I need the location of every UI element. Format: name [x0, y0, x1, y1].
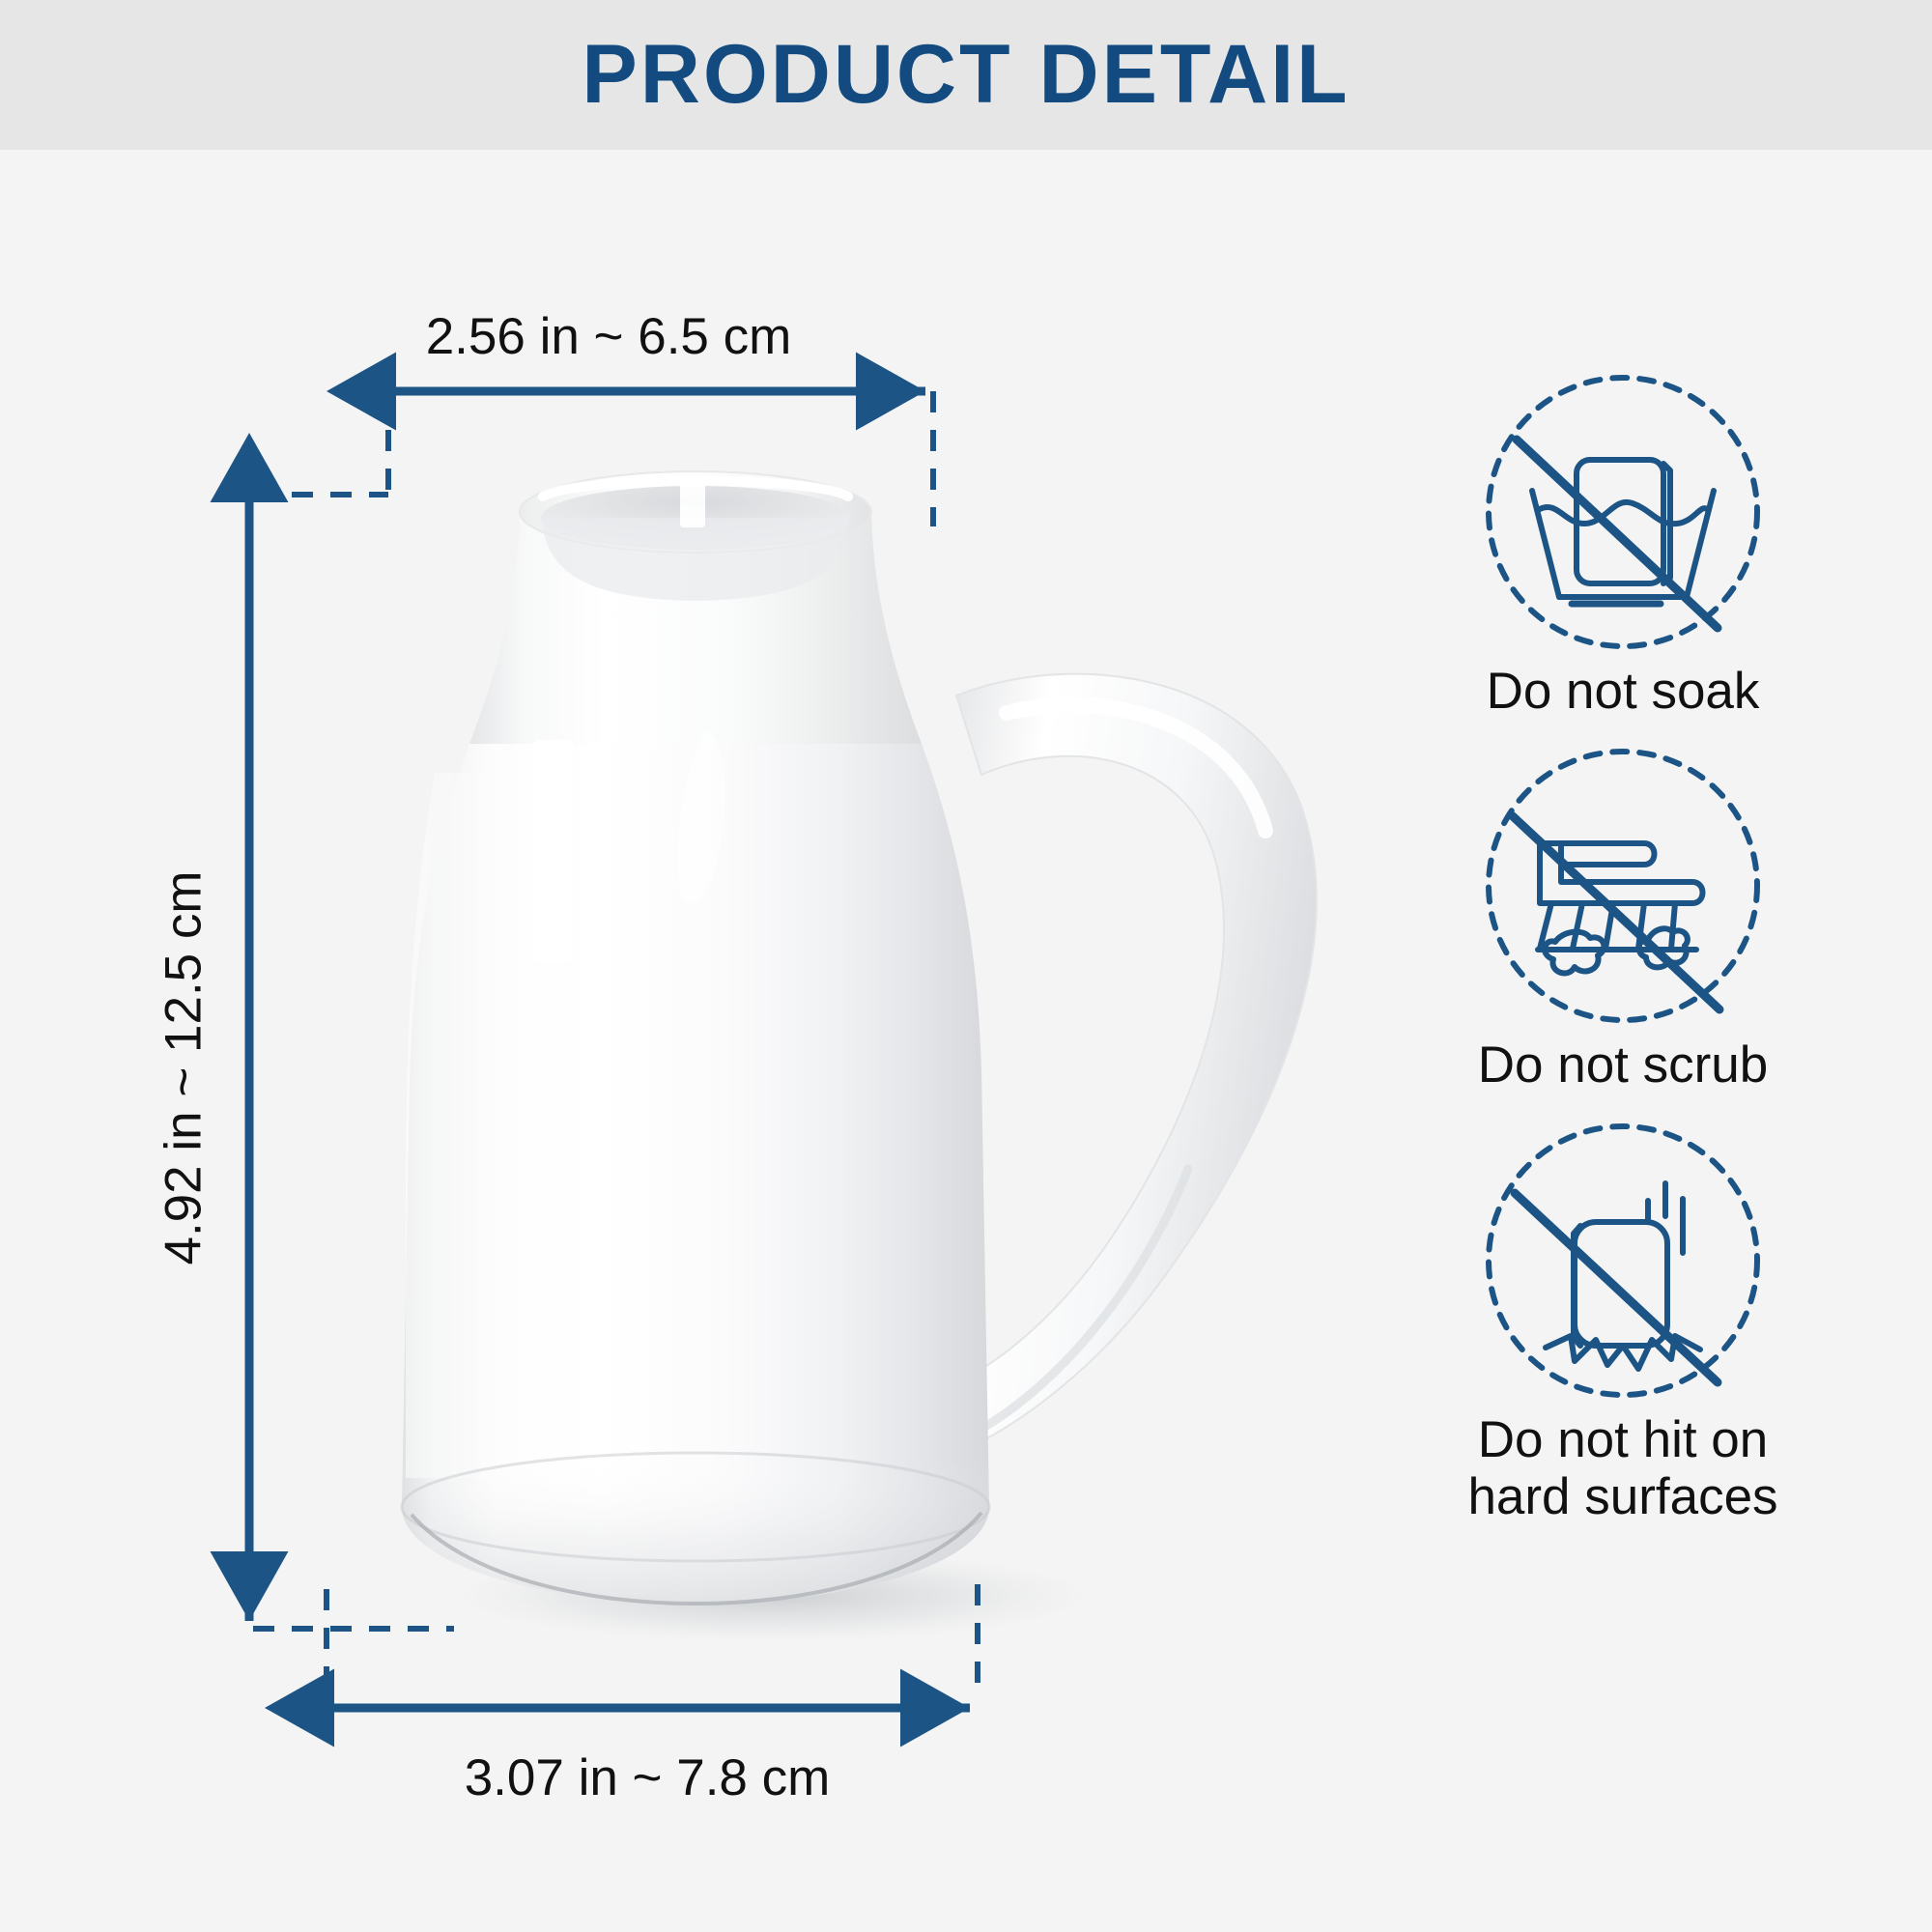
- care-caption-line1: Do not soak: [1391, 663, 1855, 720]
- dashed-ring: [1489, 752, 1757, 1020]
- care-caption-line1: Do not scrub: [1391, 1037, 1855, 1094]
- dimension-label-height: 4.92 in ~ 12.5 cm: [155, 769, 213, 1368]
- care-caption-no-soak: Do not soak: [1391, 657, 1855, 720]
- care-caption-no-impact: Do not hit on hard surfaces: [1391, 1406, 1855, 1526]
- brush-back: [1540, 843, 1703, 903]
- care-item-no-impact: Do not hit on hard surfaces: [1391, 1116, 1855, 1526]
- care-caption-line1: Do not hit on: [1391, 1411, 1855, 1468]
- dashed-ring: [1489, 1126, 1757, 1395]
- care-instructions-list: Do not soak: [1391, 367, 1855, 1547]
- no-impact-hard-surface-icon: [1391, 1116, 1855, 1406]
- care-item-no-soak: Do not soak: [1391, 367, 1855, 720]
- care-caption-no-scrub: Do not scrub: [1391, 1031, 1855, 1094]
- product-detail-page: PRODUCT DETAIL: [0, 0, 1932, 1932]
- no-scrub-brush-icon: [1391, 741, 1855, 1031]
- dimension-label-top-width: 2.56 in ~ 6.5 cm: [0, 307, 1217, 366]
- mug-gloss-rim-tick: [680, 481, 705, 527]
- dimension-label-base-width: 3.07 in ~ 7.8 cm: [0, 1748, 1294, 1807]
- water-wave: [1540, 502, 1707, 524]
- care-caption-line2: hard surfaces: [1391, 1468, 1855, 1525]
- mug-gloss-vertical: [533, 740, 574, 962]
- product-image: [290, 454, 1323, 1710]
- page-title: PRODUCT DETAIL: [0, 0, 1932, 150]
- mug-handle: [956, 674, 1317, 1449]
- care-item-no-scrub: Do not scrub: [1391, 741, 1855, 1094]
- no-soak-icon: [1391, 367, 1855, 657]
